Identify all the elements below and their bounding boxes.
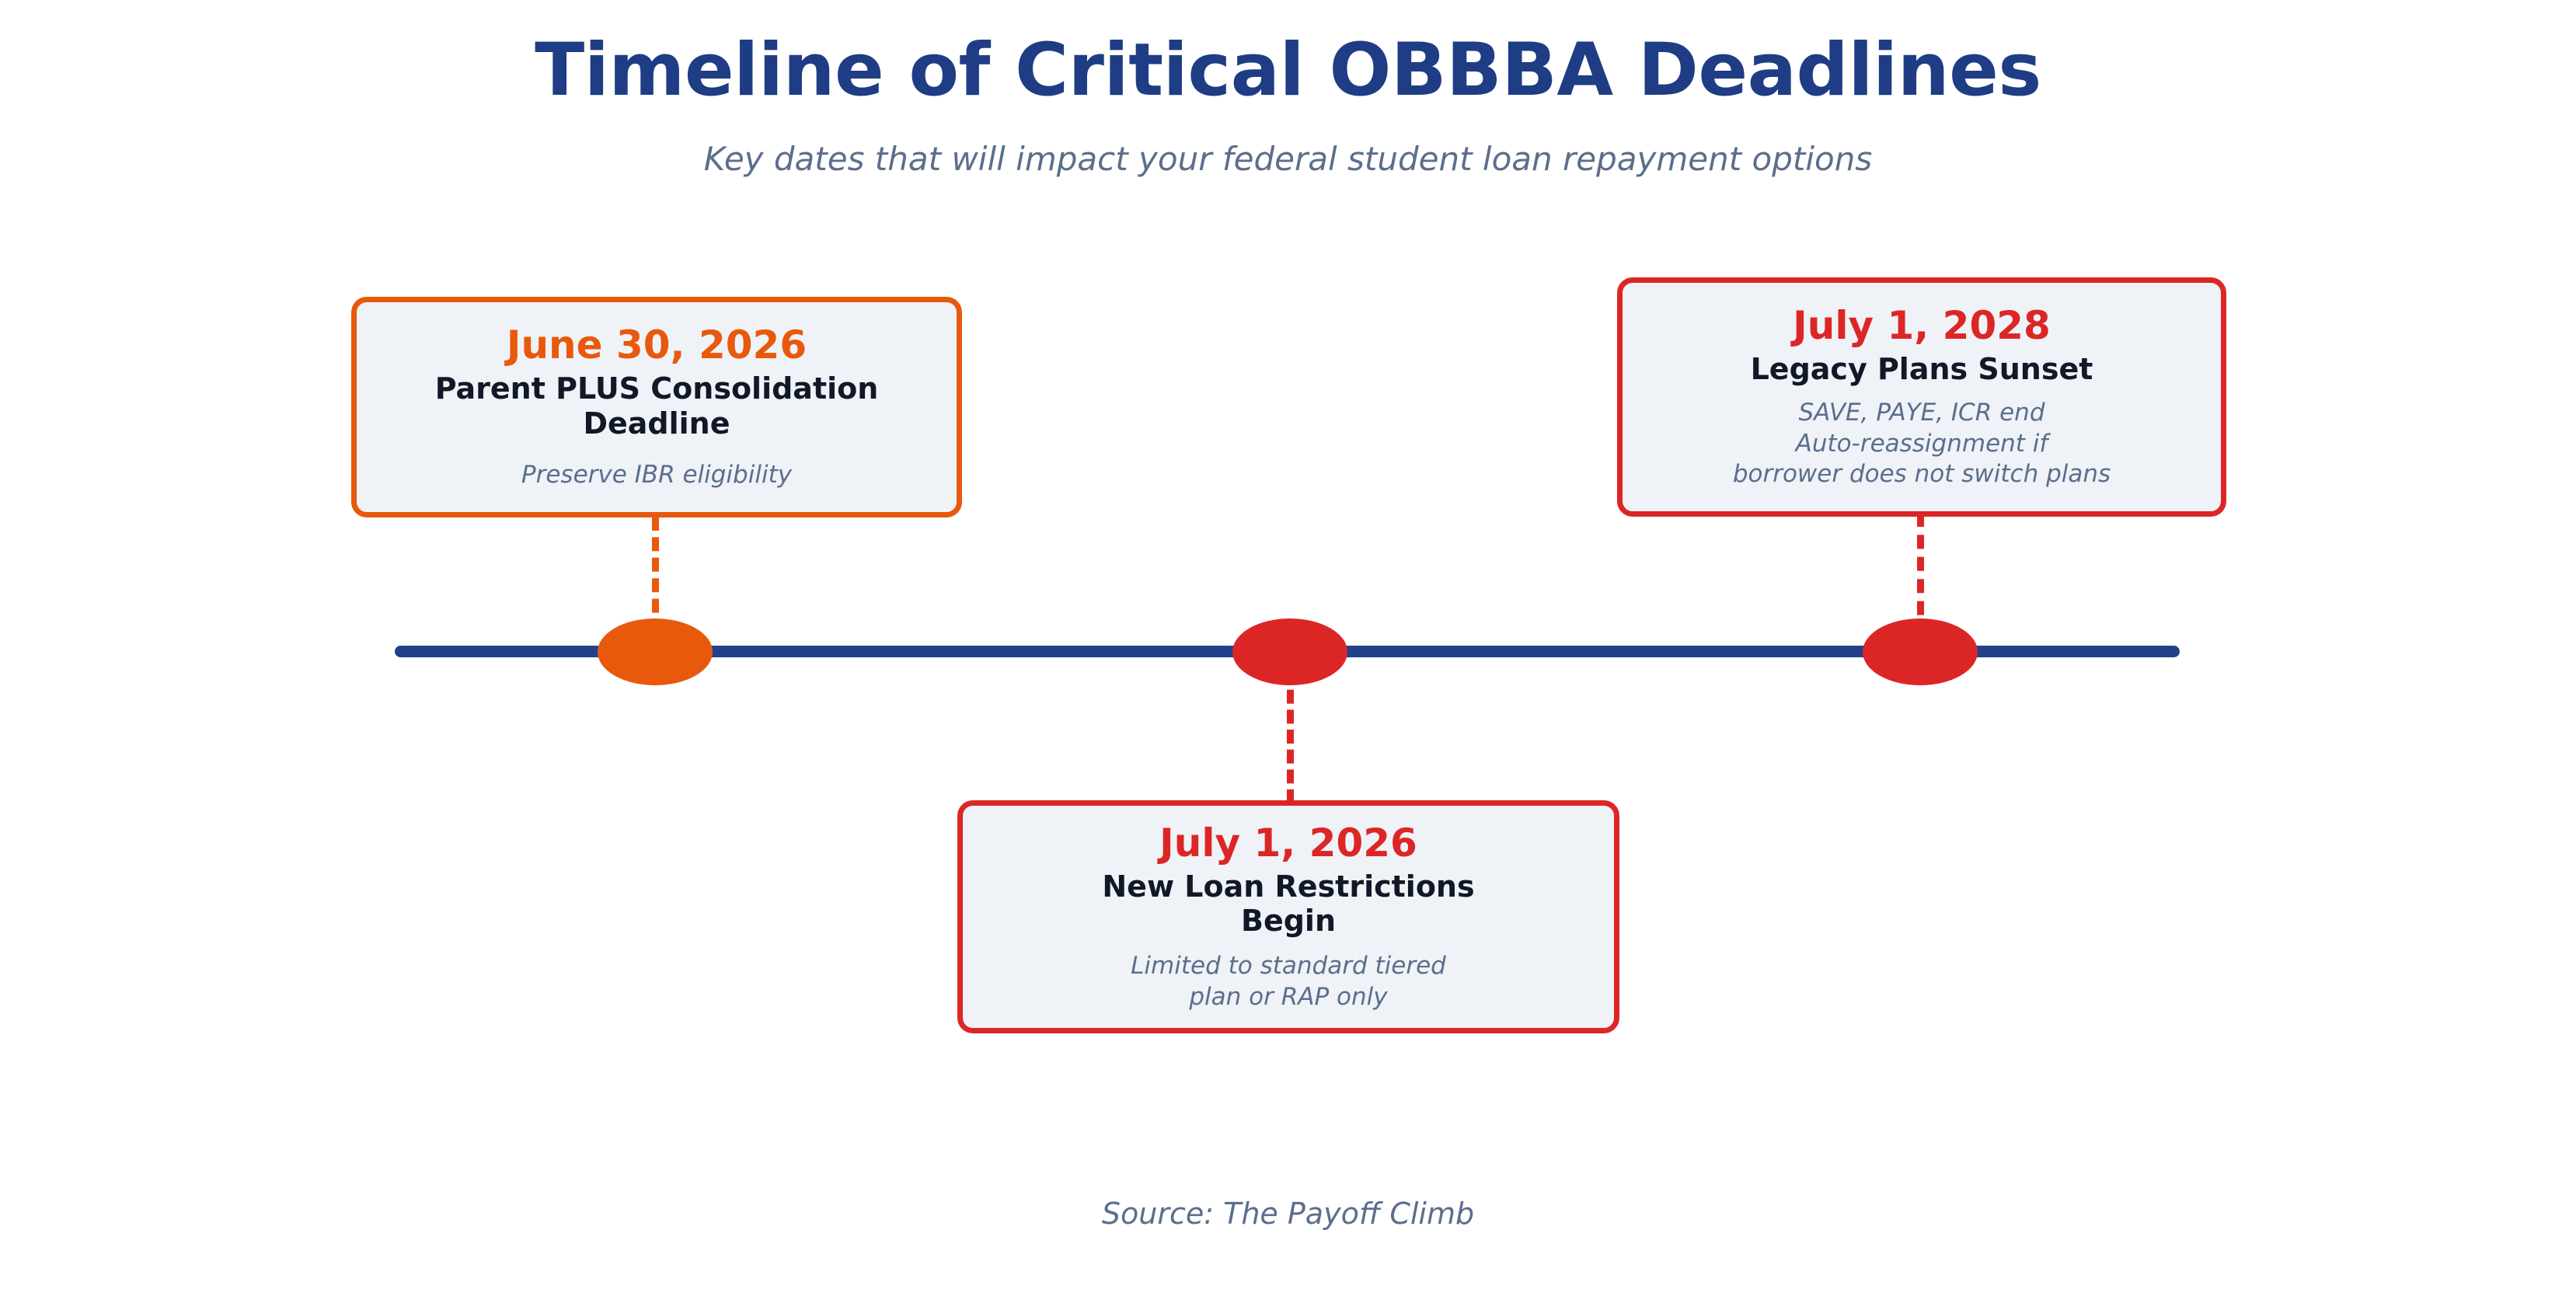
event-date: July 1, 2028: [1793, 304, 2051, 347]
event-date: June 30, 2026: [507, 323, 807, 367]
timeline-card-event-2[interactable]: July 1, 2026 New Loan Restrictions Begin…: [957, 800, 1619, 1033]
connector-line-event-2: [1287, 670, 1294, 803]
timeline-card-event-1[interactable]: June 30, 2026 Parent PLUS Consolidation …: [351, 297, 962, 517]
event-headline: New Loan Restrictions Begin: [1102, 869, 1474, 939]
event-headline: Parent PLUS Consolidation Deadline: [435, 371, 879, 441]
event-detail: Preserve IBR eligibility: [521, 460, 792, 491]
event-detail: SAVE, PAYE, ICR end Auto-reassignment if…: [1733, 398, 2111, 490]
event-detail: Limited to standard tiered plan or RAP o…: [1131, 951, 1446, 1012]
connector-line-event-1: [652, 517, 659, 633]
timeline-marker-event-3[interactable]: [1863, 618, 1978, 685]
timeline-marker-event-2[interactable]: [1232, 618, 1347, 685]
event-headline: Legacy Plans Sunset: [1751, 352, 2093, 387]
timeline-infographic: Timeline of Critical OBBBA Deadlines Key…: [0, 0, 2576, 1303]
timeline-marker-event-1[interactable]: [598, 618, 713, 685]
timeline-card-event-3[interactable]: July 1, 2028 Legacy Plans Sunset SAVE, P…: [1617, 277, 2226, 517]
source-attribution: Source: The Payoff Climb: [0, 1197, 2576, 1231]
page-subtitle: Key dates that will impact your federal …: [0, 140, 2576, 178]
event-date: July 1, 2026: [1159, 821, 1417, 865]
page-title: Timeline of Critical OBBBA Deadlines: [0, 28, 2576, 113]
